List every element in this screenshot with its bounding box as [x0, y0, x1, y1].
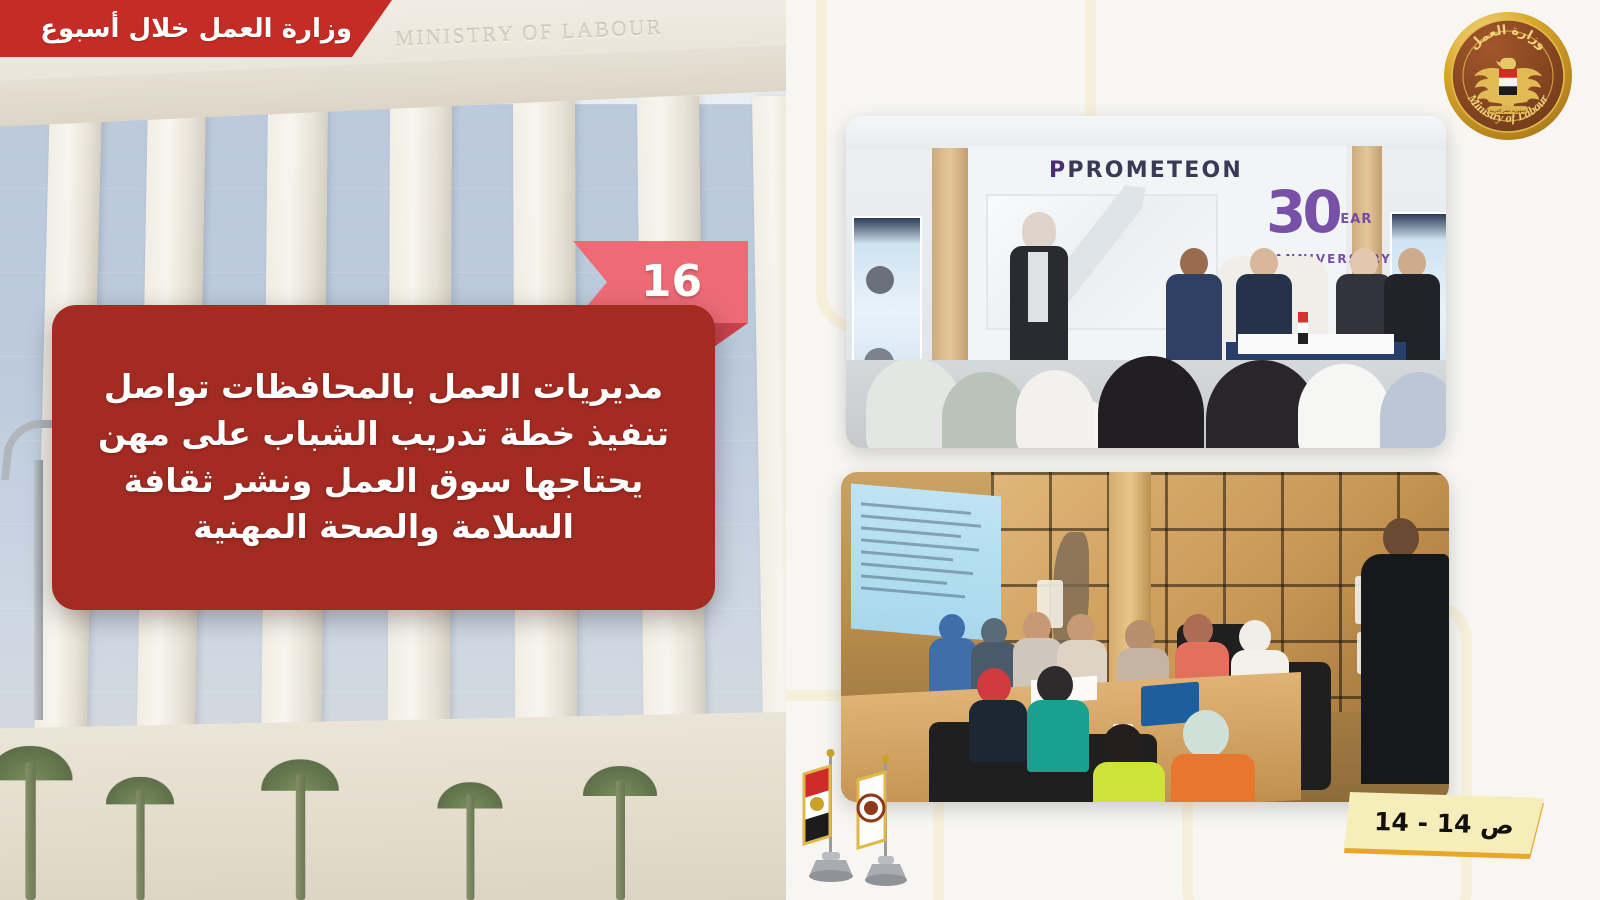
poster-canvas: MINISTRY OF LABOUR وزارة العمل خلال أسبو… — [0, 0, 1600, 900]
item-number-value: 16 — [641, 260, 702, 304]
audience-person — [1016, 370, 1094, 448]
headline-card: مديريات العمل بالمحافظات تواصل تنفيذ خطة… — [52, 305, 715, 610]
page-number-label: ص 14 - 14 — [1343, 789, 1545, 857]
ministry-flag — [858, 755, 907, 886]
egypt-flag — [804, 749, 853, 882]
palm-trees — [0, 690, 786, 900]
header-ribbon-label: وزارة العمل خلال أسبوع — [40, 14, 352, 44]
prometeon-brand-text: PPROMETEON — [996, 158, 1296, 183]
headline-line: يحتاجها سوق العمل ونشر ثقافة — [98, 458, 669, 505]
headline-text: مديريات العمل بالمحافظات تواصل تنفيذ خطة… — [98, 364, 669, 551]
projector-screen — [851, 483, 1001, 641]
headline-line: مديريات العمل بالمحافظات تواصل — [98, 364, 669, 411]
small-egypt-flag — [1298, 312, 1308, 344]
page-number-badge: ص 14 - 14 — [1344, 792, 1544, 854]
ministry-seal-svg: وزارة العمل Ministry of Labour جمهورية م… — [1442, 10, 1574, 142]
desk-flags — [792, 740, 922, 900]
prometeon-brand-label: PROMETEON — [1067, 158, 1243, 183]
header-ribbon: وزارة العمل خلال أسبوع — [0, 0, 392, 57]
anniversary-number: 30 — [1266, 178, 1339, 246]
panelist-person — [1166, 248, 1222, 370]
headline-line: السلامة والصحة المهنية — [98, 504, 669, 551]
anniversary-year-label: YEAR — [1330, 212, 1372, 227]
training-session-photo — [841, 472, 1449, 802]
svg-text:جمهورية مصر العربية: جمهورية مصر العربية — [1490, 108, 1527, 113]
desk-flags-svg — [792, 740, 922, 900]
headline-line: تنفيذ خطة تدريب الشباب على مهن — [98, 411, 669, 458]
ministry-of-labour-seal: وزارة العمل Ministry of Labour جمهورية م… — [1442, 10, 1574, 142]
name-cards — [1238, 334, 1394, 354]
prometeon-conference-photo: PPROMETEON 30 YEAR ANNIVERSARY — [846, 116, 1446, 448]
